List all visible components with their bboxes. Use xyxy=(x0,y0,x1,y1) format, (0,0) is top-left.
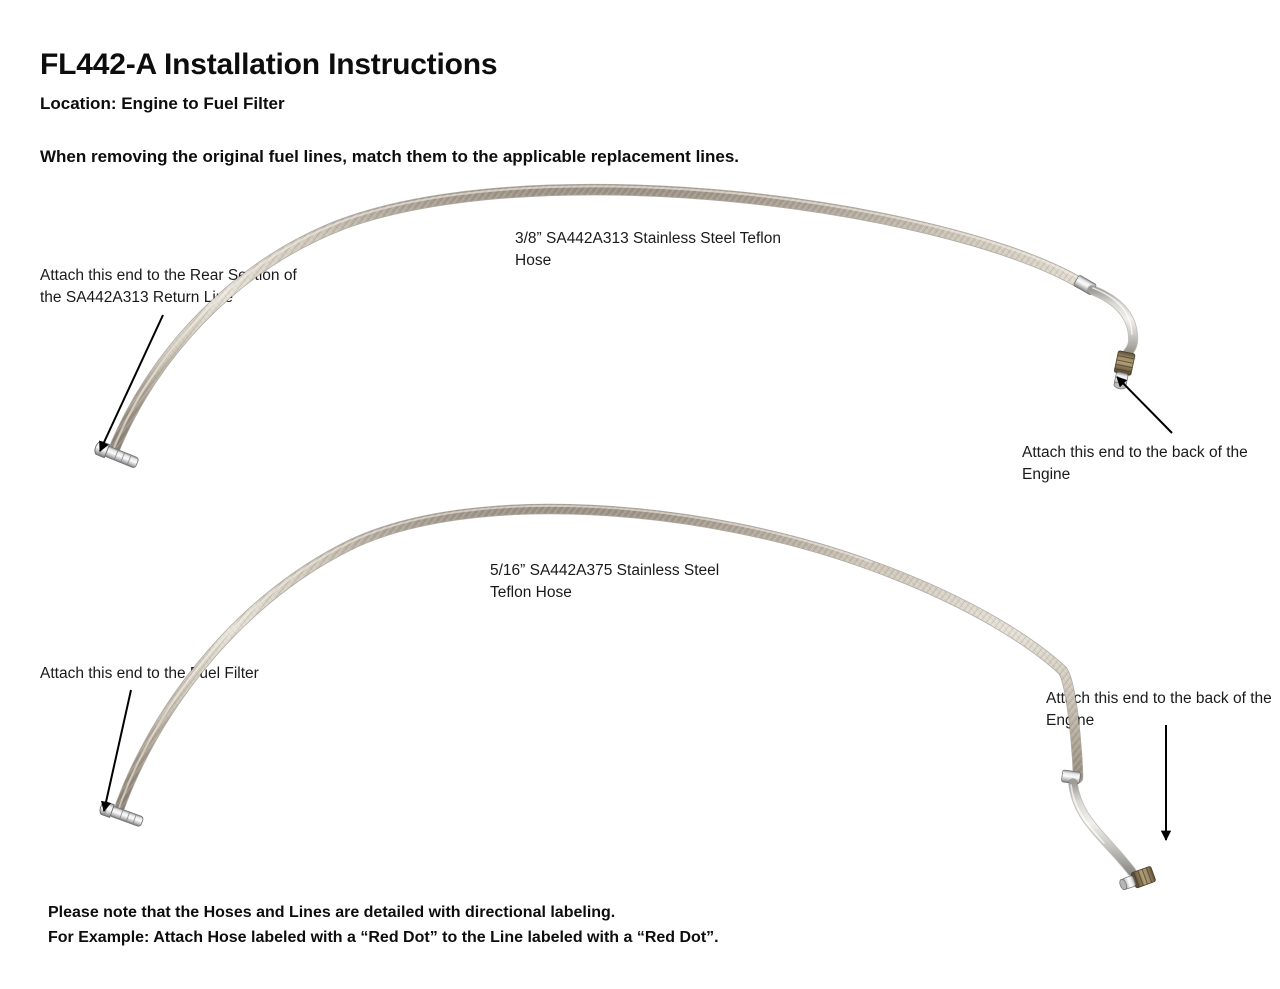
footer-note: Please note that the Hoses and Lines are… xyxy=(48,901,719,951)
primary-instruction: When removing the original fuel lines, m… xyxy=(40,147,739,167)
upper-hose-right-callout: Attach this end to the back of the Engin… xyxy=(1022,442,1266,486)
document-page: FL442-A Installation Instructions Locati… xyxy=(0,0,1280,989)
upper-hose-hardline xyxy=(1092,288,1133,355)
upper-hose-label: 3/8” SA442A313 Stainless Steel Teflon Ho… xyxy=(515,228,815,272)
lower-hose-crimp-collar xyxy=(1061,770,1080,784)
upper-hose-braid xyxy=(113,186,1081,452)
upper-hose-return-line-fitting xyxy=(93,440,140,470)
upper-left-callout-arrow xyxy=(100,315,163,451)
lower-hose-right-callout: Attach this end to the back of the Engin… xyxy=(1046,688,1278,732)
lower-left-callout-arrow xyxy=(104,690,131,811)
lower-hose-braid xyxy=(118,506,1078,812)
upper-hose-crimp-collar xyxy=(1073,275,1096,295)
lower-hose-engine-fitting xyxy=(1118,866,1156,893)
location-subtitle: Location: Engine to Fuel Filter xyxy=(40,94,285,114)
lower-hose-label: 5/16” SA442A375 Stainless Steel Teflon H… xyxy=(490,560,750,604)
upper-hose-engine-fitting xyxy=(1111,351,1135,391)
lower-hose-fuel-filter-fitting xyxy=(98,801,144,829)
upper-hose-left-callout: Attach this end to the Rear Section of t… xyxy=(40,265,308,309)
footer-note-line-2: For Example: Attach Hose labeled with a … xyxy=(48,926,719,951)
lower-hose-hardline xyxy=(1071,783,1132,872)
upper-right-callout-arrow xyxy=(1117,377,1172,433)
footer-note-line-1: Please note that the Hoses and Lines are… xyxy=(48,901,719,926)
page-title: FL442-A Installation Instructions xyxy=(40,48,497,82)
lower-hose-left-callout: Attach this end to the Fuel Filter xyxy=(40,663,270,685)
